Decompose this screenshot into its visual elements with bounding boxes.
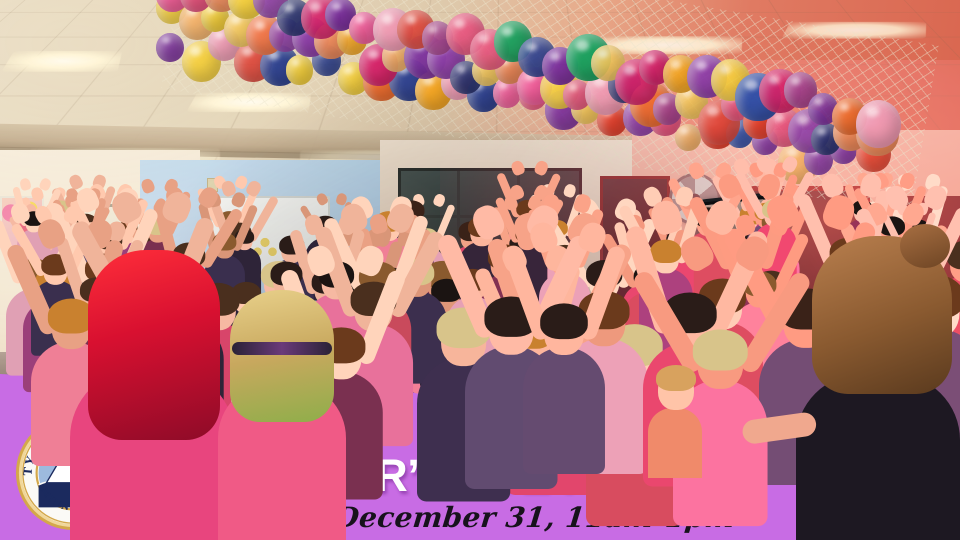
hand bbox=[140, 177, 156, 194]
hair bbox=[692, 329, 747, 369]
balloon bbox=[156, 33, 184, 62]
event-photo bbox=[0, 0, 960, 540]
hair bbox=[230, 290, 334, 422]
hand bbox=[510, 160, 527, 178]
hand bbox=[432, 192, 447, 207]
hair-bun-knot bbox=[900, 224, 950, 268]
torso bbox=[523, 347, 605, 474]
torso bbox=[648, 408, 702, 478]
balloon bbox=[675, 124, 701, 152]
hand bbox=[19, 177, 32, 191]
hair bbox=[541, 303, 589, 338]
hair bbox=[656, 365, 696, 391]
hand bbox=[562, 182, 577, 198]
balloon bbox=[856, 100, 901, 148]
balloon bbox=[286, 55, 314, 84]
red-hair bbox=[88, 250, 220, 440]
hand bbox=[686, 161, 706, 182]
torso bbox=[796, 374, 960, 540]
hand bbox=[315, 192, 329, 207]
ceiling-light-panel bbox=[1, 51, 122, 72]
hair bbox=[650, 240, 681, 263]
crowd bbox=[0, 150, 960, 440]
hand bbox=[534, 160, 551, 178]
event-poster: CITY OF PRIOR LAKE MINNESOTA NOON YEAR’S… bbox=[0, 0, 960, 540]
headband bbox=[232, 342, 332, 355]
